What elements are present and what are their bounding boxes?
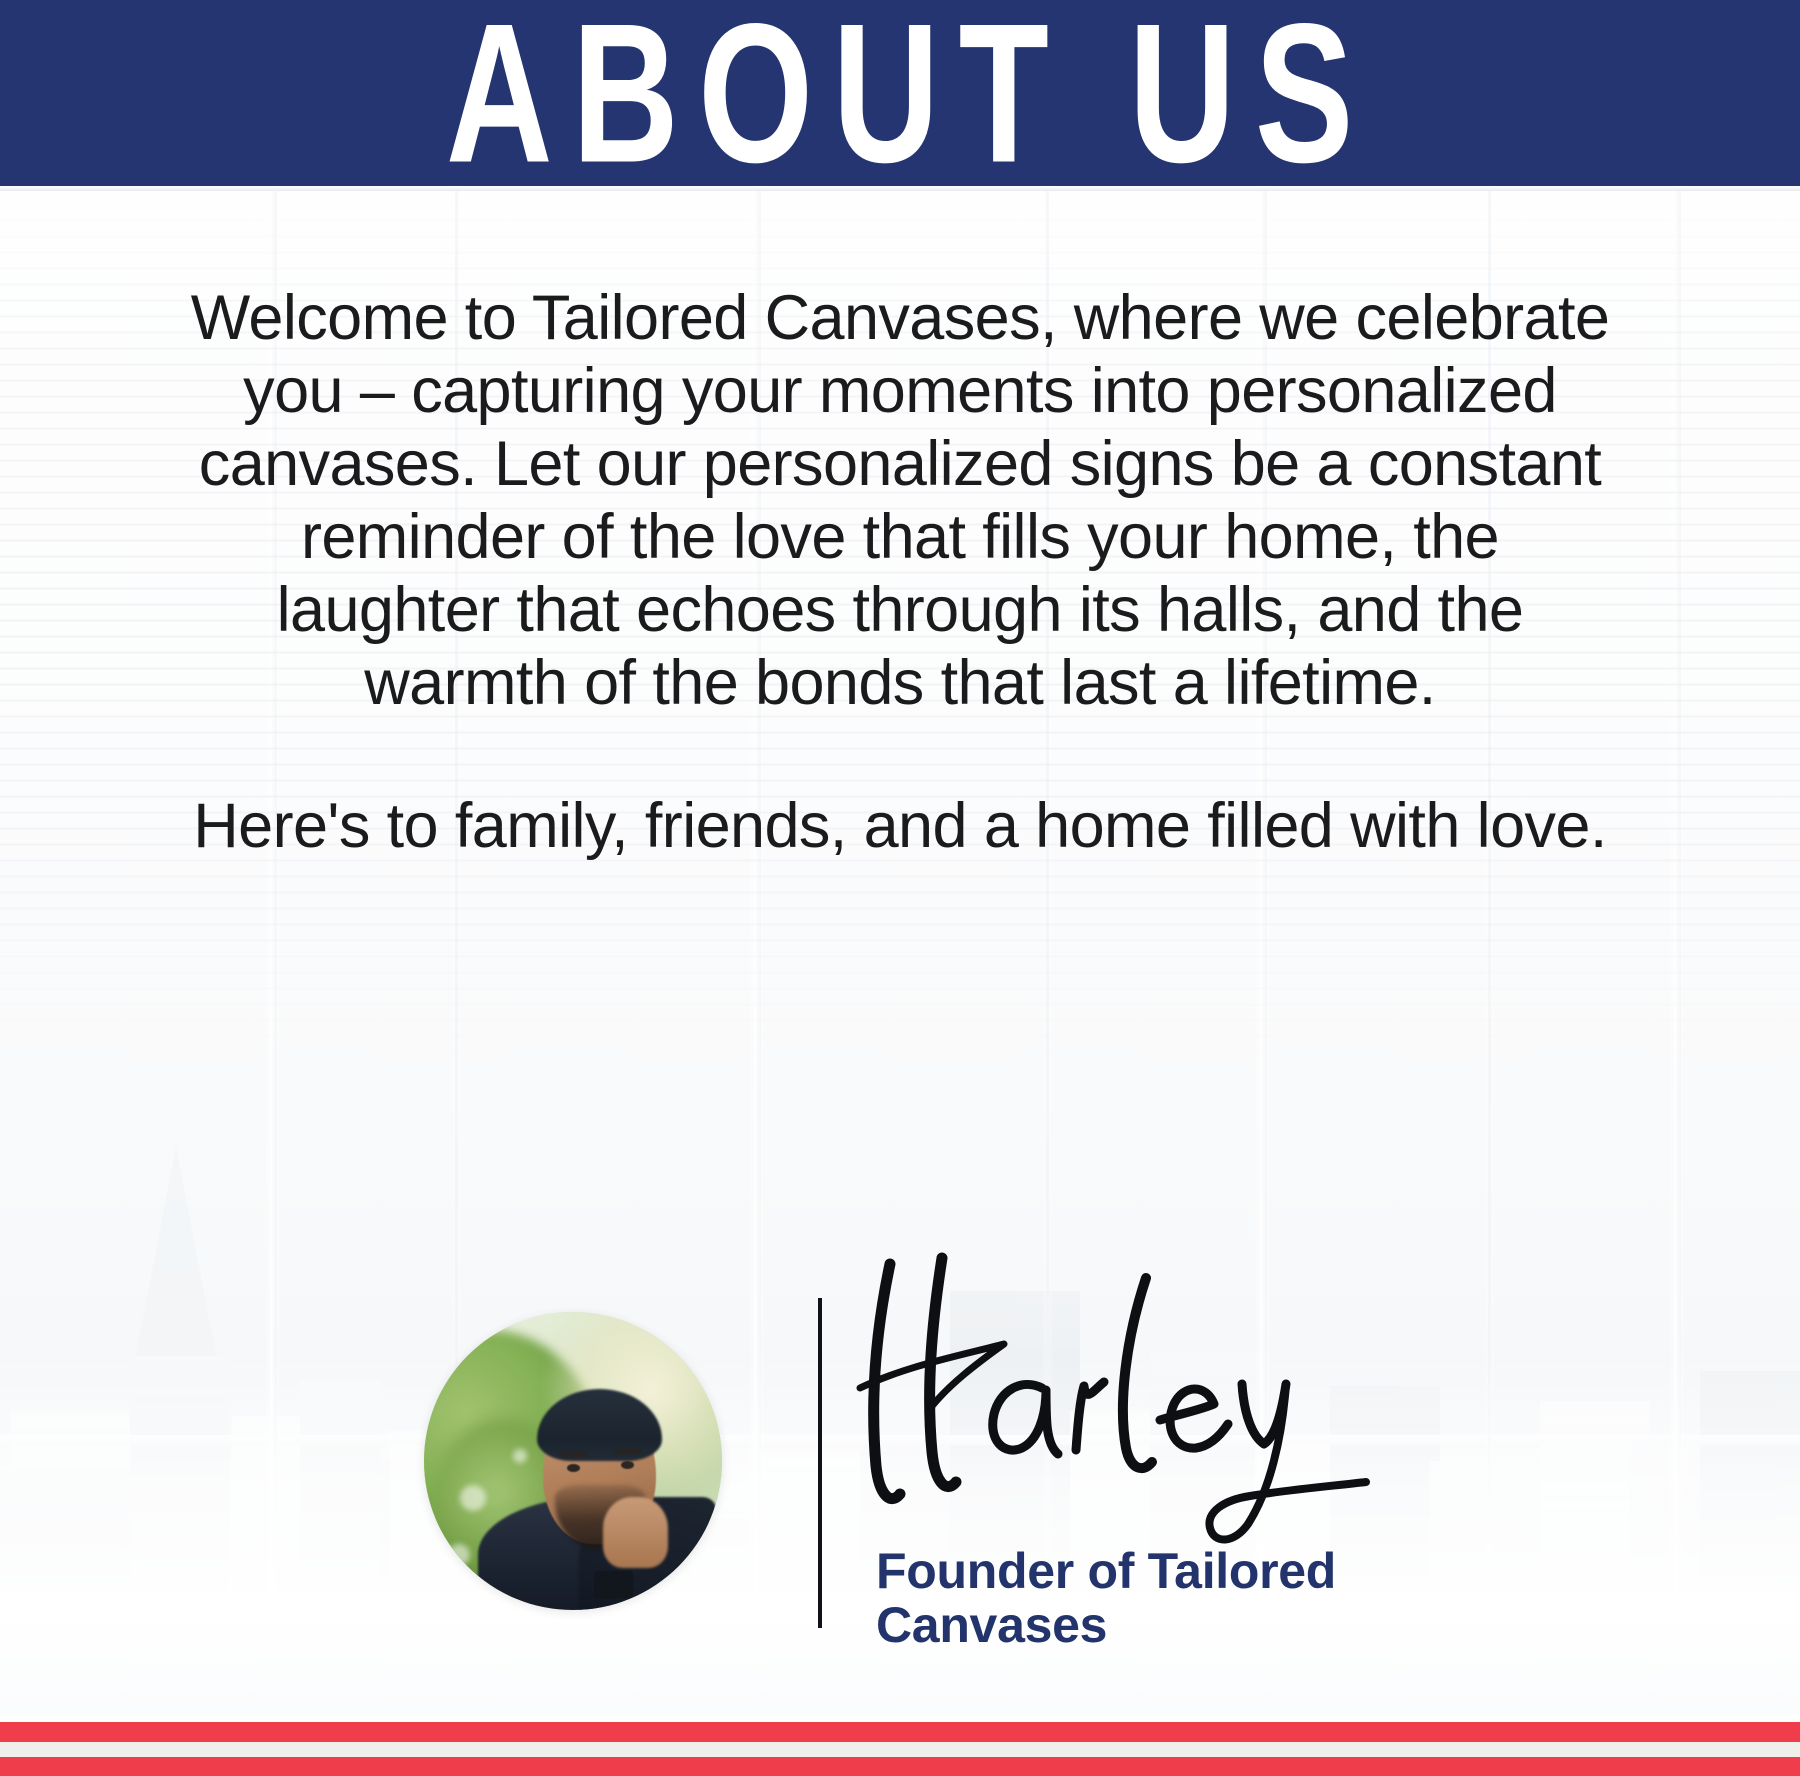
signature-divider bbox=[818, 1298, 822, 1628]
paragraph-spacer bbox=[190, 720, 1610, 790]
founder-role-line-2: Canvases bbox=[876, 1598, 1436, 1652]
about-us-page: ABOUT US Welcome to Tailored Canvases, w… bbox=[0, 0, 1800, 1776]
about-paragraph-2: Here's to family, friends, and a home fi… bbox=[190, 790, 1610, 863]
footer-stripe-bottom bbox=[0, 1757, 1800, 1776]
page-header: ABOUT US bbox=[0, 0, 1800, 186]
footer-stripe-top bbox=[0, 1722, 1800, 1742]
page-title: ABOUT US bbox=[427, 0, 1373, 192]
avatar bbox=[424, 1312, 722, 1610]
header-divider bbox=[0, 186, 1800, 191]
founder-role-line-1: Founder of Tailored bbox=[876, 1544, 1436, 1598]
about-paragraph-1: Welcome to Tailored Canvases, where we c… bbox=[190, 282, 1610, 720]
founder-role: Founder of Tailored Canvases bbox=[876, 1544, 1436, 1652]
signature-harley bbox=[846, 1238, 1466, 1538]
about-copy: Welcome to Tailored Canvases, where we c… bbox=[190, 282, 1610, 864]
founder-portrait-illustration bbox=[424, 1312, 722, 1610]
footer-stripe-gap bbox=[0, 1742, 1800, 1757]
